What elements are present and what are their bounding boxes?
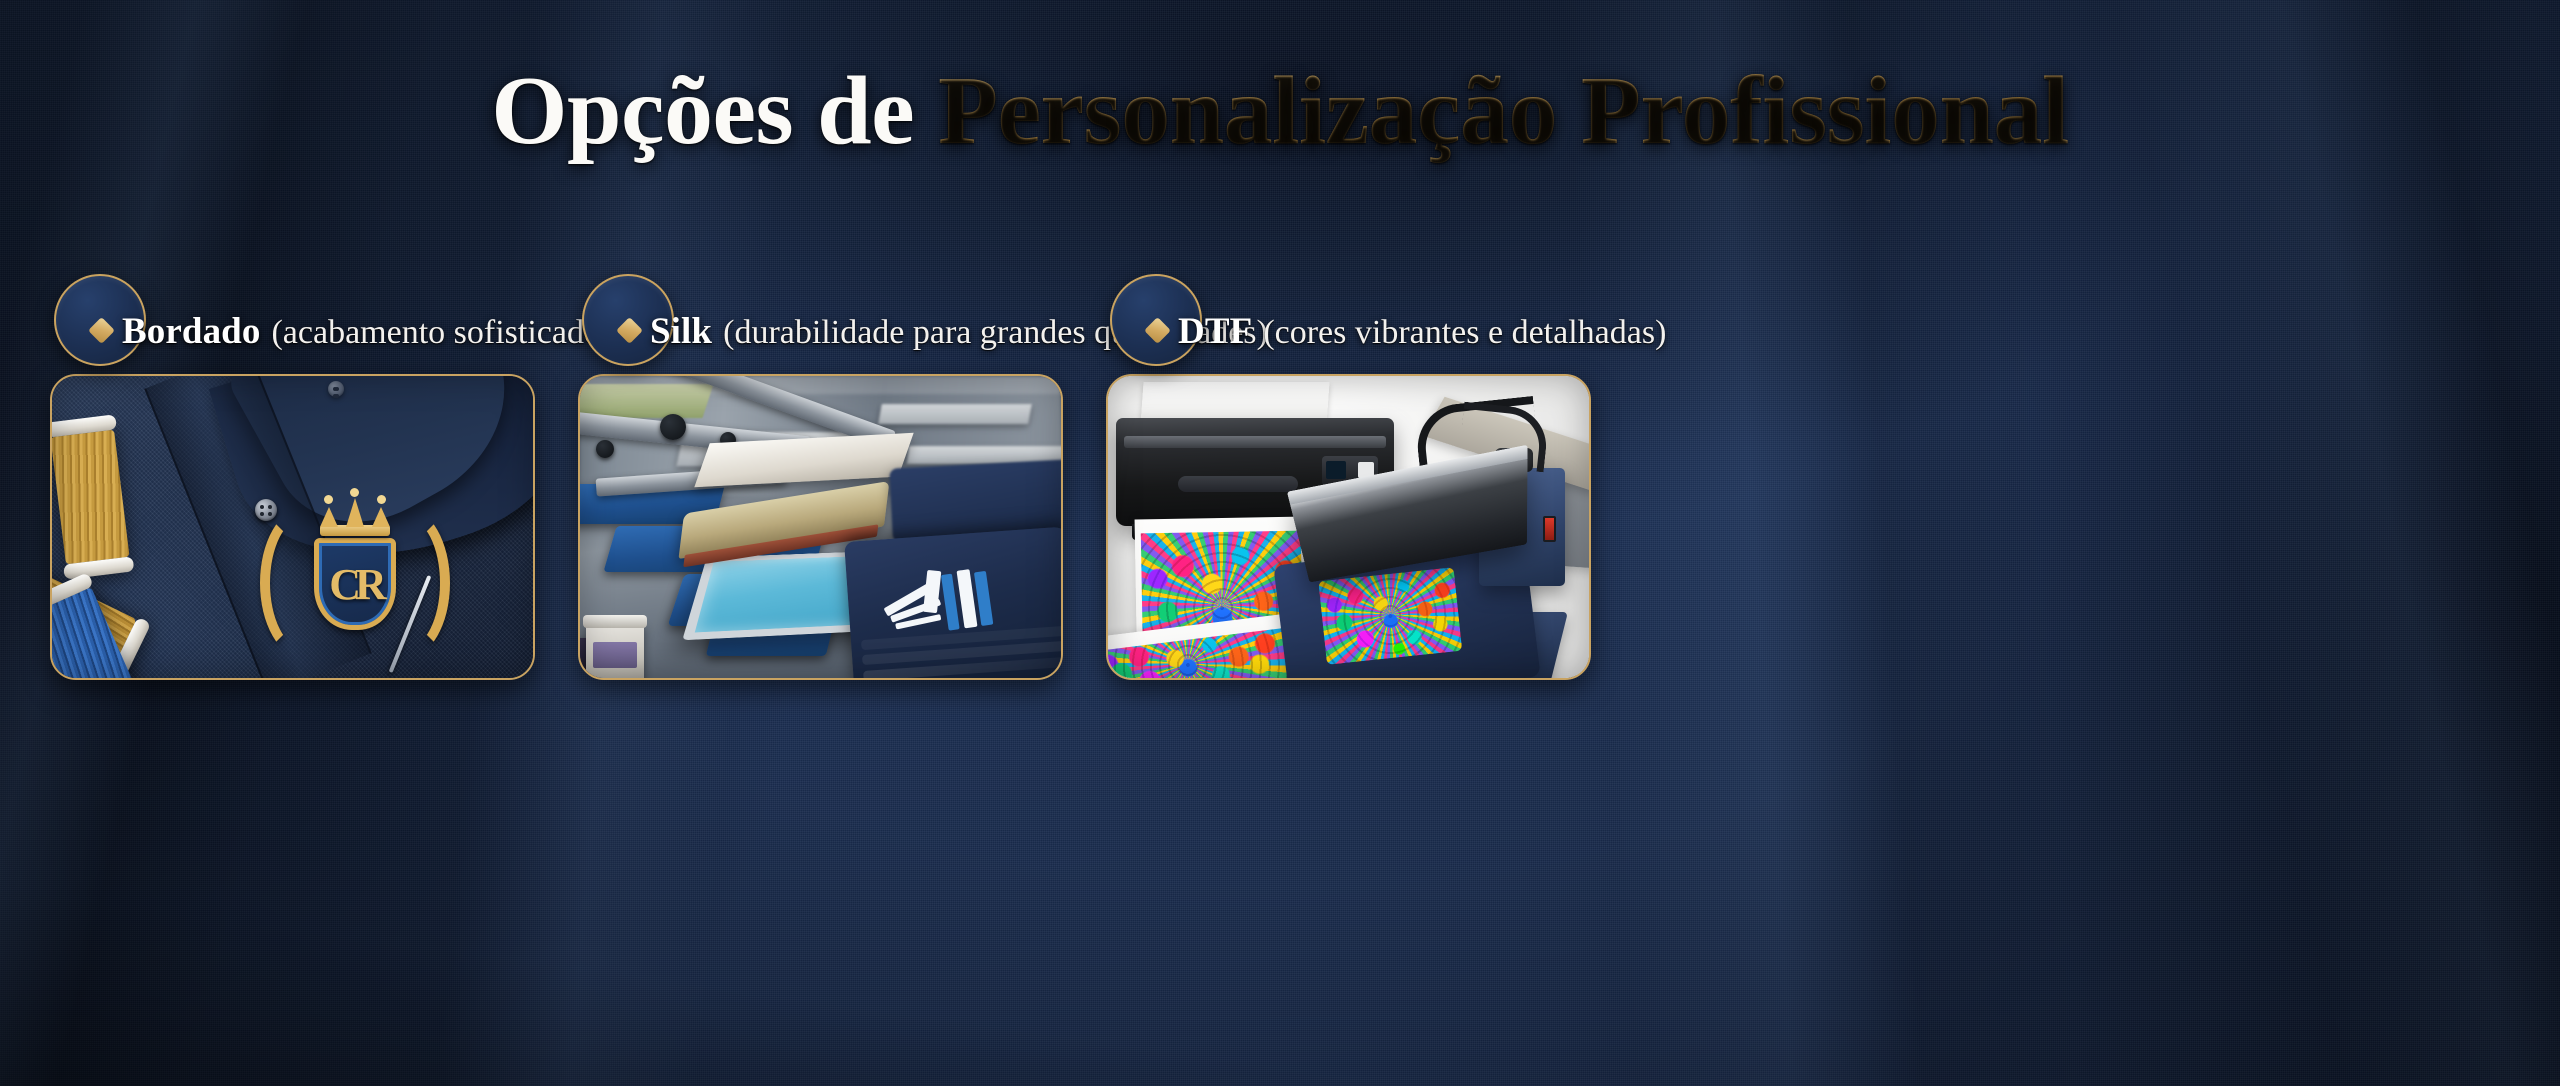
card-title-bordado: Bordado — [122, 310, 260, 353]
image-panel-bordado[interactable]: CR — [50, 374, 535, 680]
colorful-print-artwork-lower — [1108, 628, 1289, 678]
photo-dtf-printing — [1108, 376, 1589, 678]
diamond-bullet-icon — [88, 317, 115, 344]
page-title-white-part: Opções de — [491, 57, 938, 165]
ink-jar — [586, 622, 644, 678]
embroidered-crest: CR — [256, 480, 454, 678]
card-title-silk: Silk — [650, 310, 712, 353]
diamond-bullet-icon — [616, 317, 643, 344]
folded-navy-shirt-stack — [844, 526, 1061, 678]
card-header-bordado: Bordado (acabamento sofisticado) — [50, 288, 535, 374]
ink-jar-label — [593, 642, 637, 668]
shirt-printed-graphic — [877, 552, 1003, 645]
crest-crown — [320, 496, 390, 536]
page-title-gold-part: Personalização Profissional — [938, 57, 2069, 165]
printer-top-strip — [1124, 436, 1386, 448]
diamond-bullet-icon — [1144, 317, 1171, 344]
tshirt-printed-artwork — [1318, 567, 1462, 665]
crest-shield: CR — [314, 538, 396, 630]
options-card-row: Bordado (acabamento sofisticado) — [50, 288, 2520, 618]
option-card-bordado[interactable]: Bordado (acabamento sofisticado) — [50, 288, 535, 618]
heat-press-power-switch — [1543, 516, 1556, 542]
crest-monogram: CR — [319, 543, 391, 625]
photo-screen-printing — [580, 376, 1061, 678]
image-panel-dtf[interactable] — [1106, 374, 1591, 680]
option-card-silk[interactable]: Silk (durabilidade para grandes quantida… — [578, 288, 1063, 618]
printer-handle — [1178, 476, 1298, 492]
photo-embroidery: CR — [52, 376, 533, 678]
polo-button-secondary — [328, 381, 344, 397]
card-header-silk: Silk (durabilidade para grandes quantida… — [578, 288, 1063, 374]
press-pivot-2 — [596, 440, 614, 458]
card-subtitle-bordado: (acabamento sofisticado) — [271, 314, 612, 352]
card-label-dtf: DTF (cores vibrantes e detalhadas) — [1120, 310, 1666, 353]
page-title: Opções de Personalização Profissional — [0, 62, 2560, 160]
card-title-dtf: DTF — [1178, 310, 1252, 353]
card-label-bordado: Bordado (acabamento sofisticado) — [64, 310, 612, 353]
press-pivot-1 — [660, 414, 686, 440]
card-subtitle-dtf: (cores vibrantes e detalhadas) — [1263, 314, 1666, 352]
card-header-dtf: DTF (cores vibrantes e detalhadas) — [1106, 288, 1591, 374]
background-screen-frame — [580, 384, 714, 418]
workshop-table-2 — [878, 404, 1032, 424]
option-card-dtf[interactable]: DTF (cores vibrantes e detalhadas) — [1106, 288, 1591, 618]
image-panel-silk[interactable] — [578, 374, 1063, 680]
